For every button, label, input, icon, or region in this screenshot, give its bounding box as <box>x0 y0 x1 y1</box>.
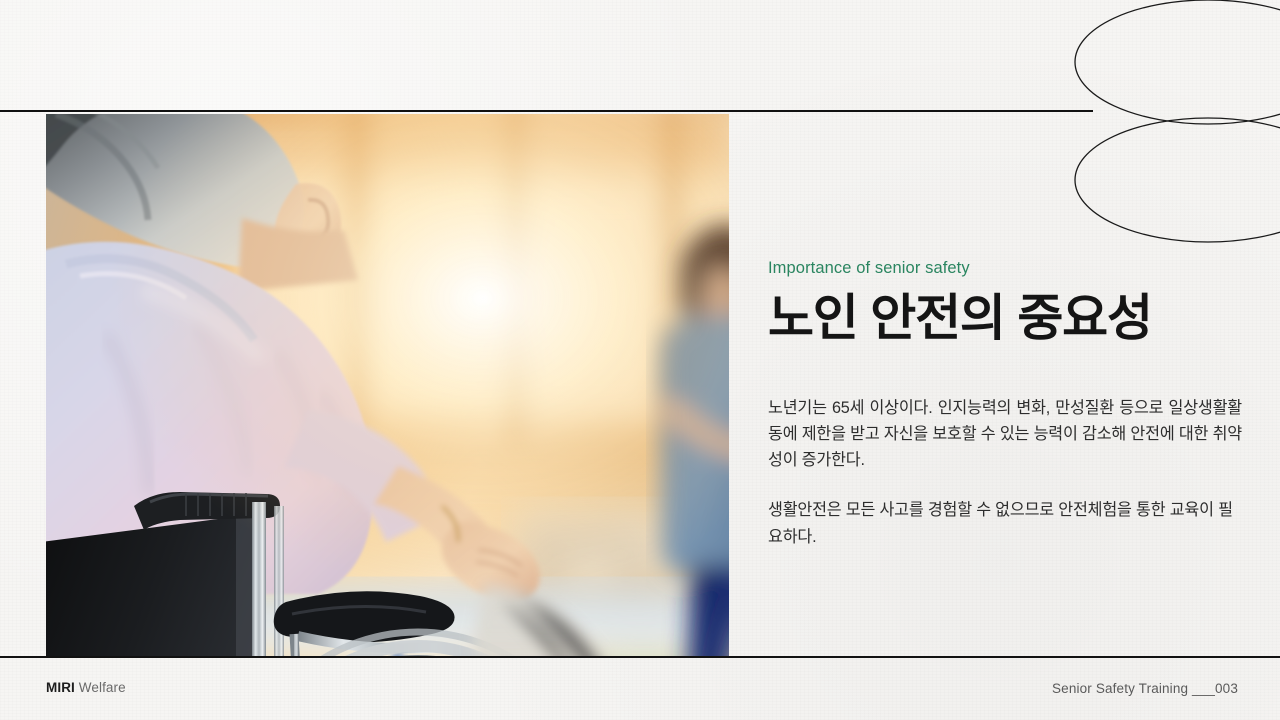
ellipse-upper-icon <box>1075 0 1280 124</box>
slide-photo <box>46 114 729 656</box>
page-title: 노인 안전의 중요성 <box>768 291 1242 345</box>
decorative-ellipses <box>1040 0 1280 250</box>
presentation-slide: Importance of senior safety 노인 안전의 중요성 노… <box>0 0 1280 720</box>
text-column: Importance of senior safety 노인 안전의 중요성 노… <box>768 258 1242 550</box>
body-paragraph-2: 생활안전은 모든 사고를 경험할 수 없으므로 안전체험을 통한 교육이 필요하… <box>768 497 1242 549</box>
body-paragraph-1: 노년기는 65세 이상이다. 인지능력의 변화, 만성질환 등으로 일상생활활동… <box>768 395 1242 474</box>
ellipse-lower-icon <box>1075 118 1280 242</box>
body-text-block: 노년기는 65세 이상이다. 인지능력의 변화, 만성질환 등으로 일상생활활동… <box>768 395 1242 550</box>
eyebrow-label: Importance of senior safety <box>768 258 1242 279</box>
brand-name: MIRI <box>46 680 75 695</box>
bottom-divider-rule <box>0 656 1280 658</box>
brand-subtitle: Welfare <box>79 680 126 695</box>
top-divider-rule <box>0 110 1093 112</box>
footer-slide-label: Senior Safety Training ___003 <box>1052 681 1238 696</box>
footer-brand: MIRI Welfare <box>46 680 126 695</box>
